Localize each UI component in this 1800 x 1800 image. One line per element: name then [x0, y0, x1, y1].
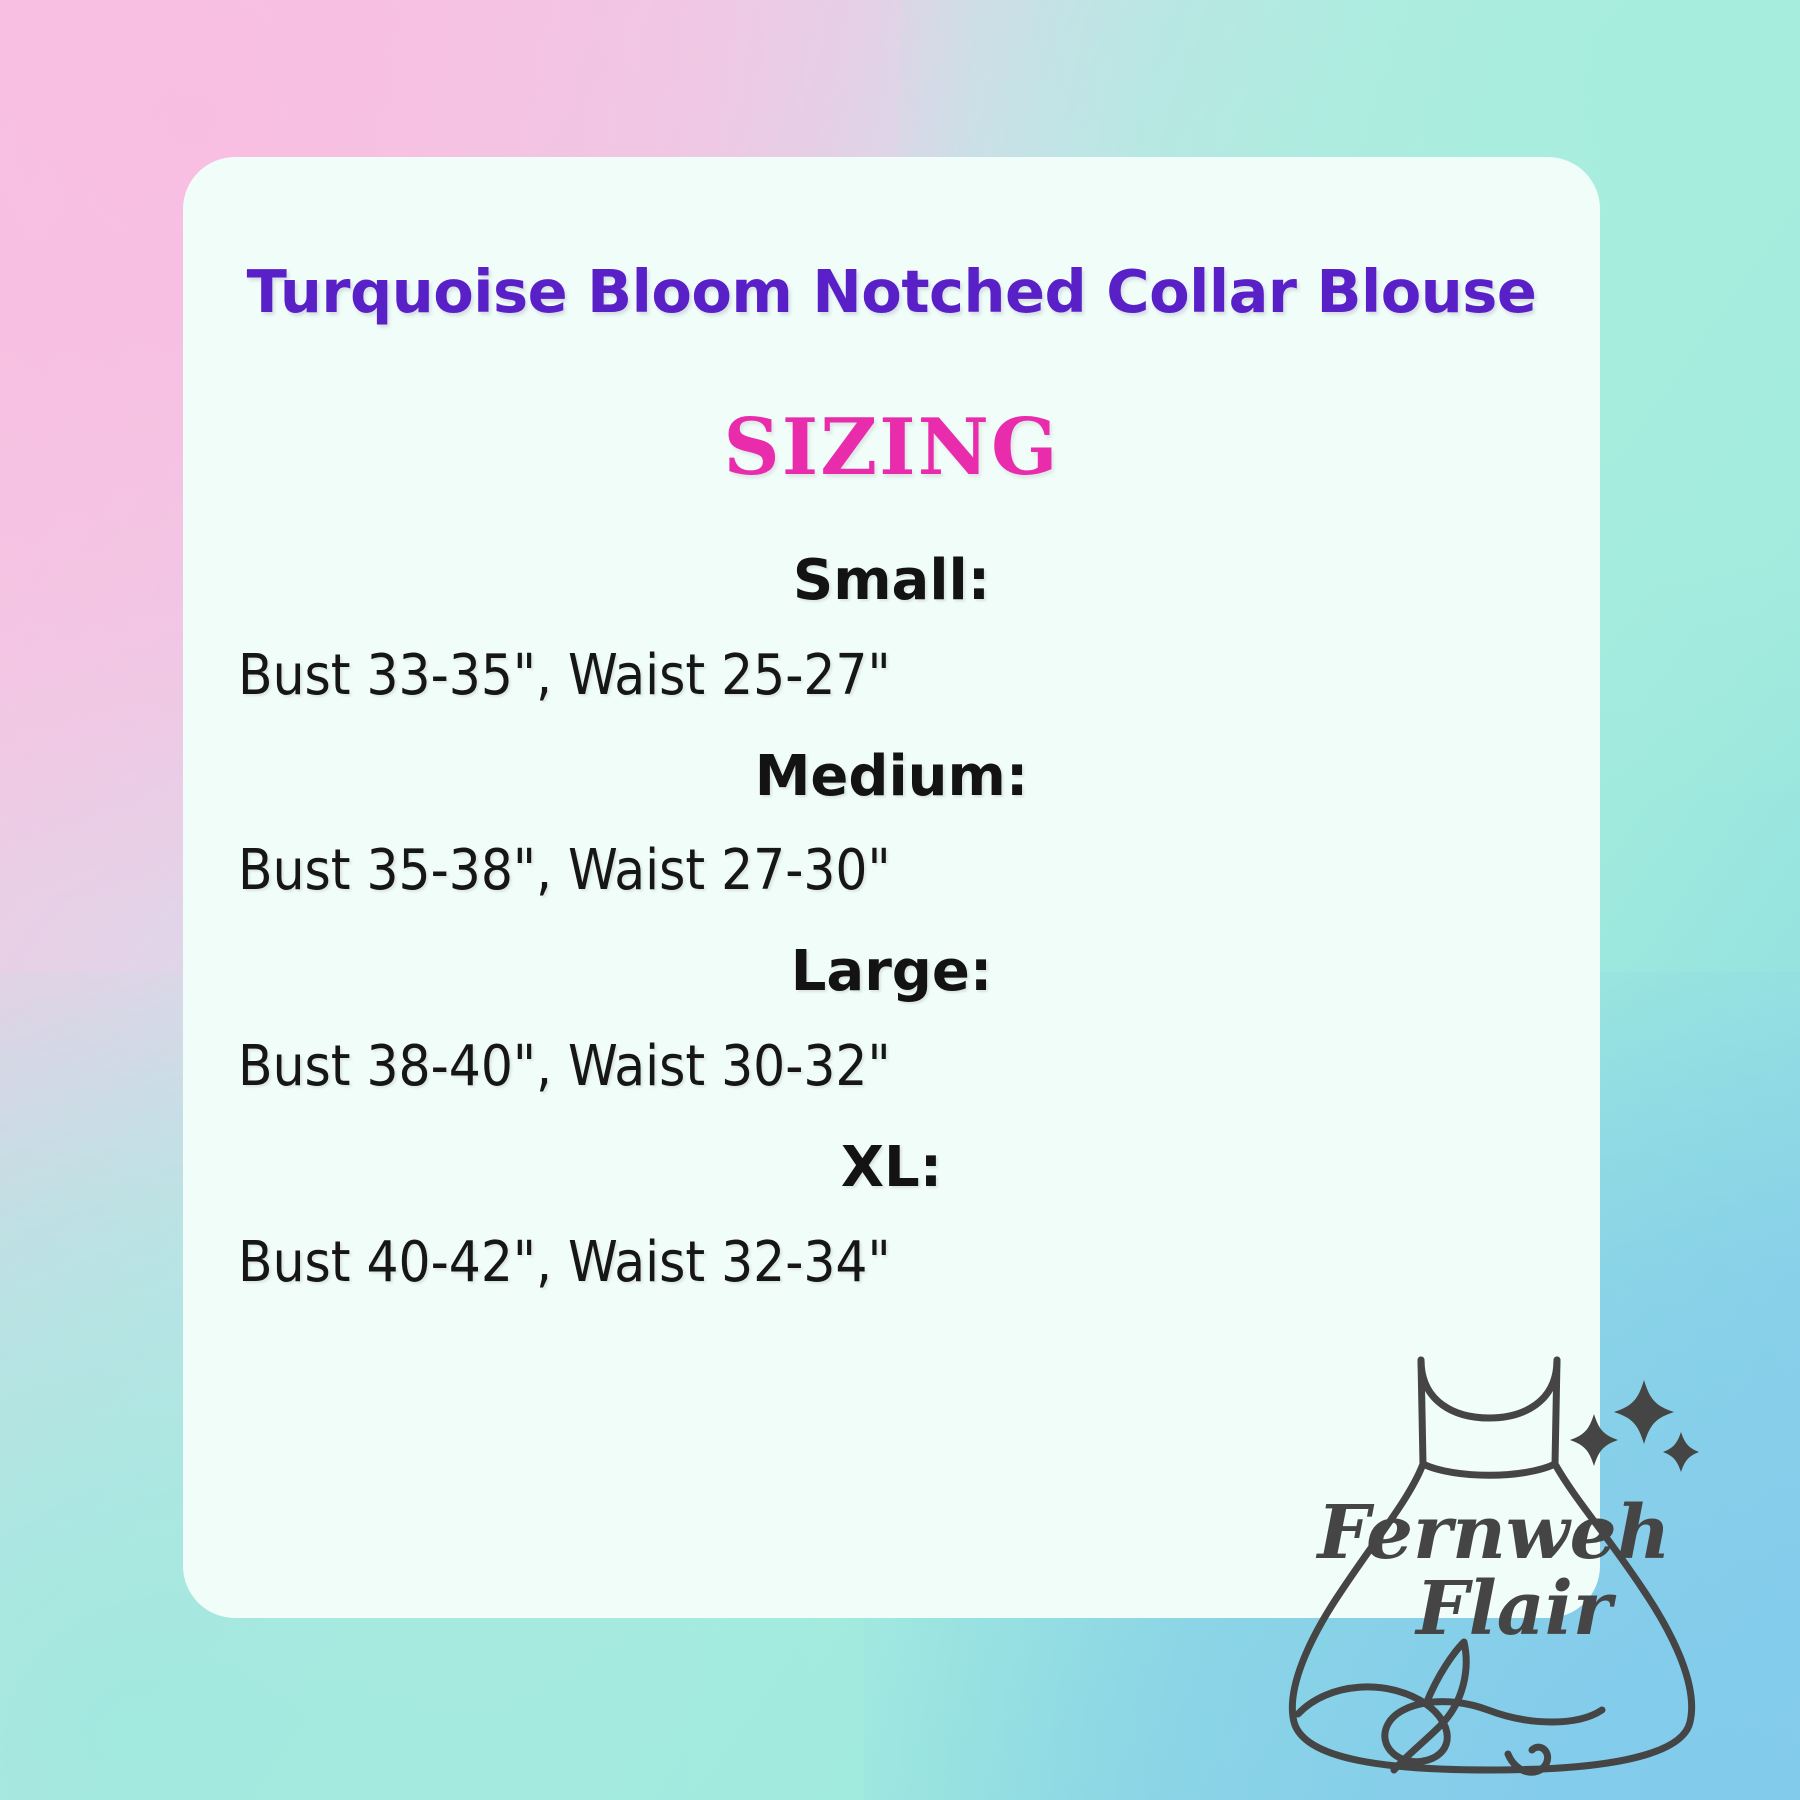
brand-wordmark: Fernweh Flair: [1316, 1490, 1671, 1652]
size-block-small: Small: Bust 33-35", Waist 25-27": [238, 552, 1545, 706]
page-title: Turquoise Bloom Notched Collar Blouse: [183, 257, 1600, 326]
sizing-heading: SIZING: [183, 402, 1600, 493]
brand-line-one: Fernweh: [1316, 1490, 1671, 1576]
size-measurements-xl: Bust 40-42", Waist 32-34": [238, 1234, 1545, 1293]
size-block-xl: XL: Bust 40-42", Waist 32-34": [238, 1139, 1545, 1293]
size-measurements-small: Bust 33-35", Waist 25-27": [238, 647, 1545, 706]
size-measurements-medium: Bust 35-38", Waist 27-30": [238, 842, 1545, 901]
brand-logo: Fernweh Flair: [1258, 1322, 1778, 1792]
size-block-medium: Medium: Bust 35-38", Waist 27-30": [238, 748, 1545, 902]
size-label-small: Small:: [238, 552, 1545, 611]
size-label-xl: XL:: [238, 1139, 1545, 1198]
brand-line-two: Flair: [1414, 1566, 1617, 1652]
sizing-card-canvas: Turquoise Bloom Notched Collar Blouse SI…: [0, 0, 1800, 1800]
size-block-large: Large: Bust 38-40", Waist 30-32": [238, 943, 1545, 1097]
size-measurements-large: Bust 38-40", Waist 30-32": [238, 1038, 1545, 1097]
size-label-medium: Medium:: [238, 748, 1545, 807]
dress-icon: Fernweh Flair: [1258, 1322, 1778, 1792]
size-label-large: Large:: [238, 943, 1545, 1002]
sparkle-icon: [1570, 1380, 1699, 1472]
size-list: Small: Bust 33-35", Waist 25-27" Medium:…: [238, 552, 1545, 1292]
